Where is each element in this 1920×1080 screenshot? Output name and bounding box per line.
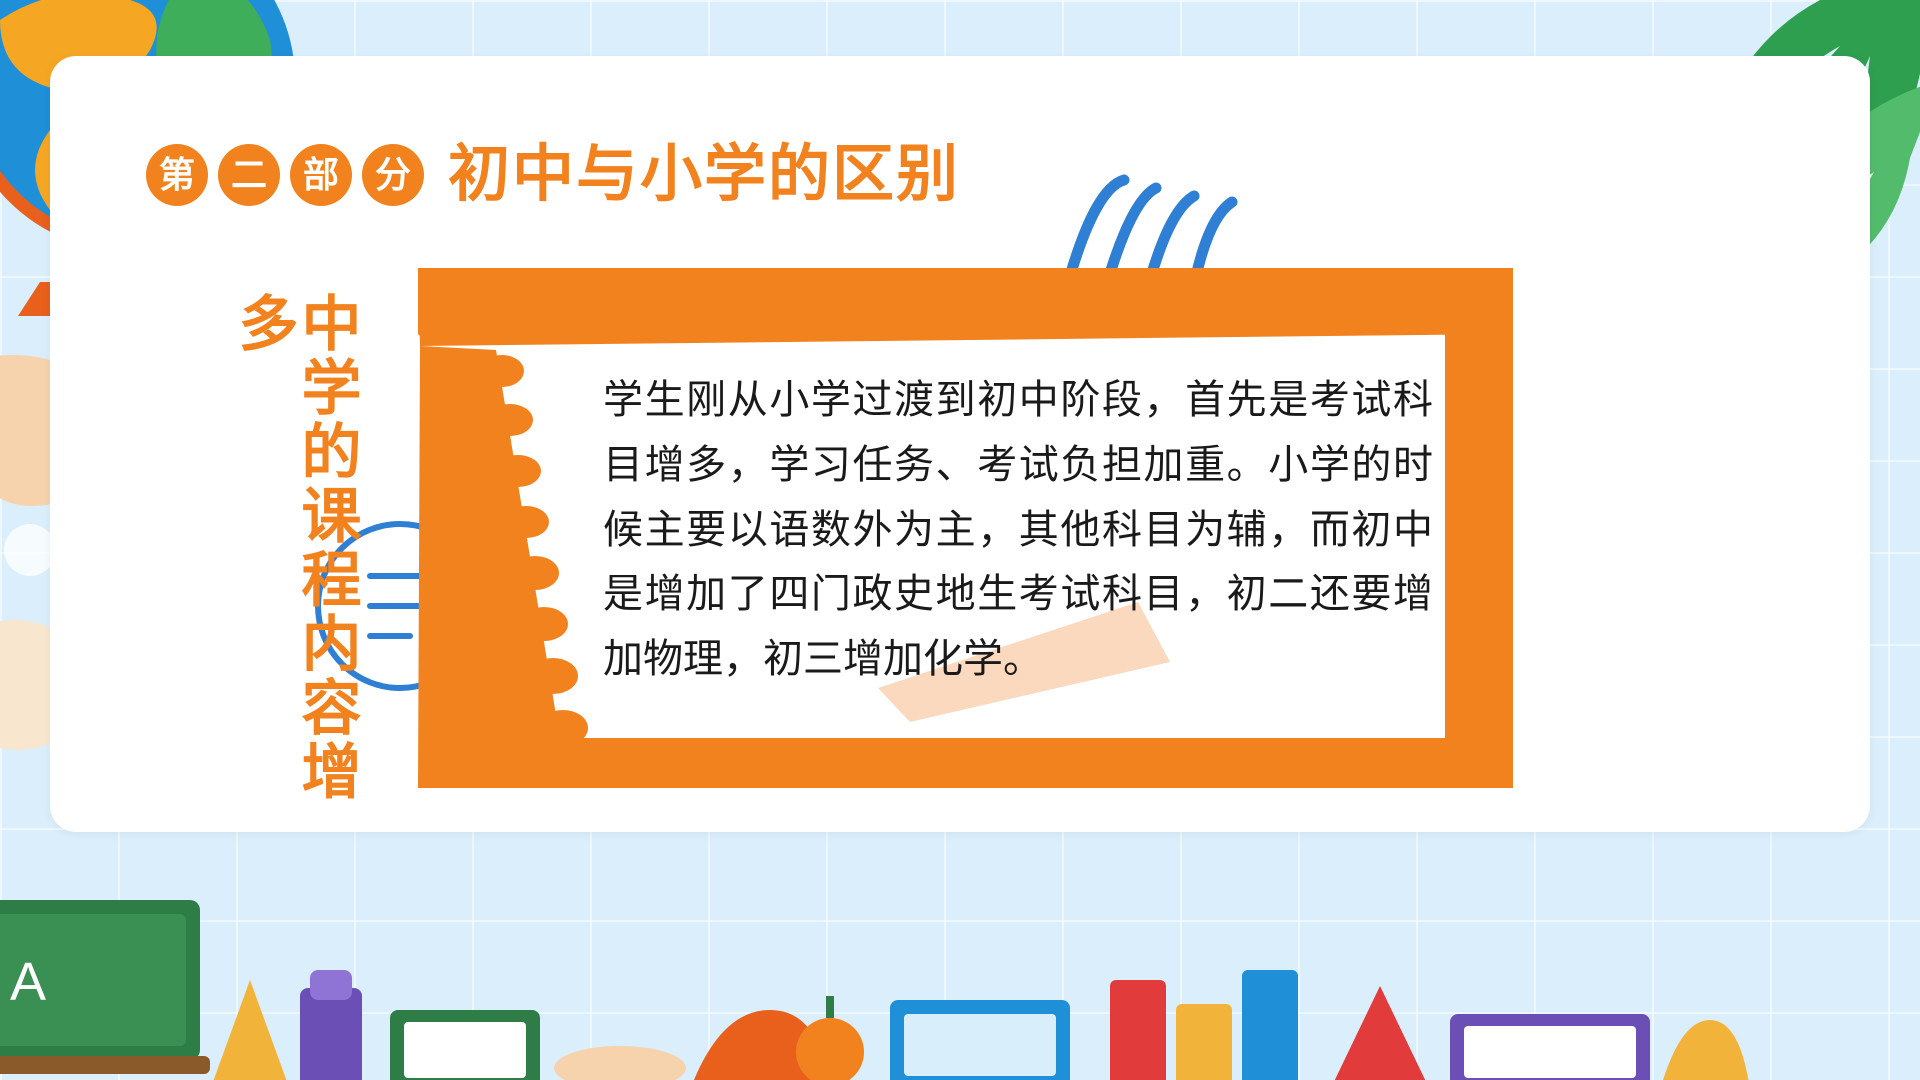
page-title: 第 二 部 分 初中与小学的区别 <box>146 144 960 206</box>
title-badge-3: 部 <box>290 144 352 206</box>
blue-scribble-mark <box>1050 156 1250 286</box>
title-badge-2: 二 <box>218 144 280 206</box>
title-badge-1: 第 <box>146 144 208 206</box>
content-panel: 学生刚从小学过渡到初中阶段，首先是考试科目增多，学习任务、考试负担加重。小学的时… <box>418 268 1513 788</box>
stationery-illustration <box>190 960 1750 1080</box>
body-paragraph: 学生刚从小学过渡到初中阶段，首先是考试科目增多，学习任务、考试负担加重。小学的时… <box>603 368 1433 692</box>
vertical-section-label: 中学的课程内容增多 <box>262 292 358 832</box>
title-badge-4: 分 <box>362 144 424 206</box>
svg-text:A: A <box>10 952 46 1012</box>
slide-card: 第 二 部 分 初中与小学的区别 中学的课程内容增多 <box>50 56 1870 832</box>
title-heading: 初中与小学的区别 <box>448 144 960 206</box>
